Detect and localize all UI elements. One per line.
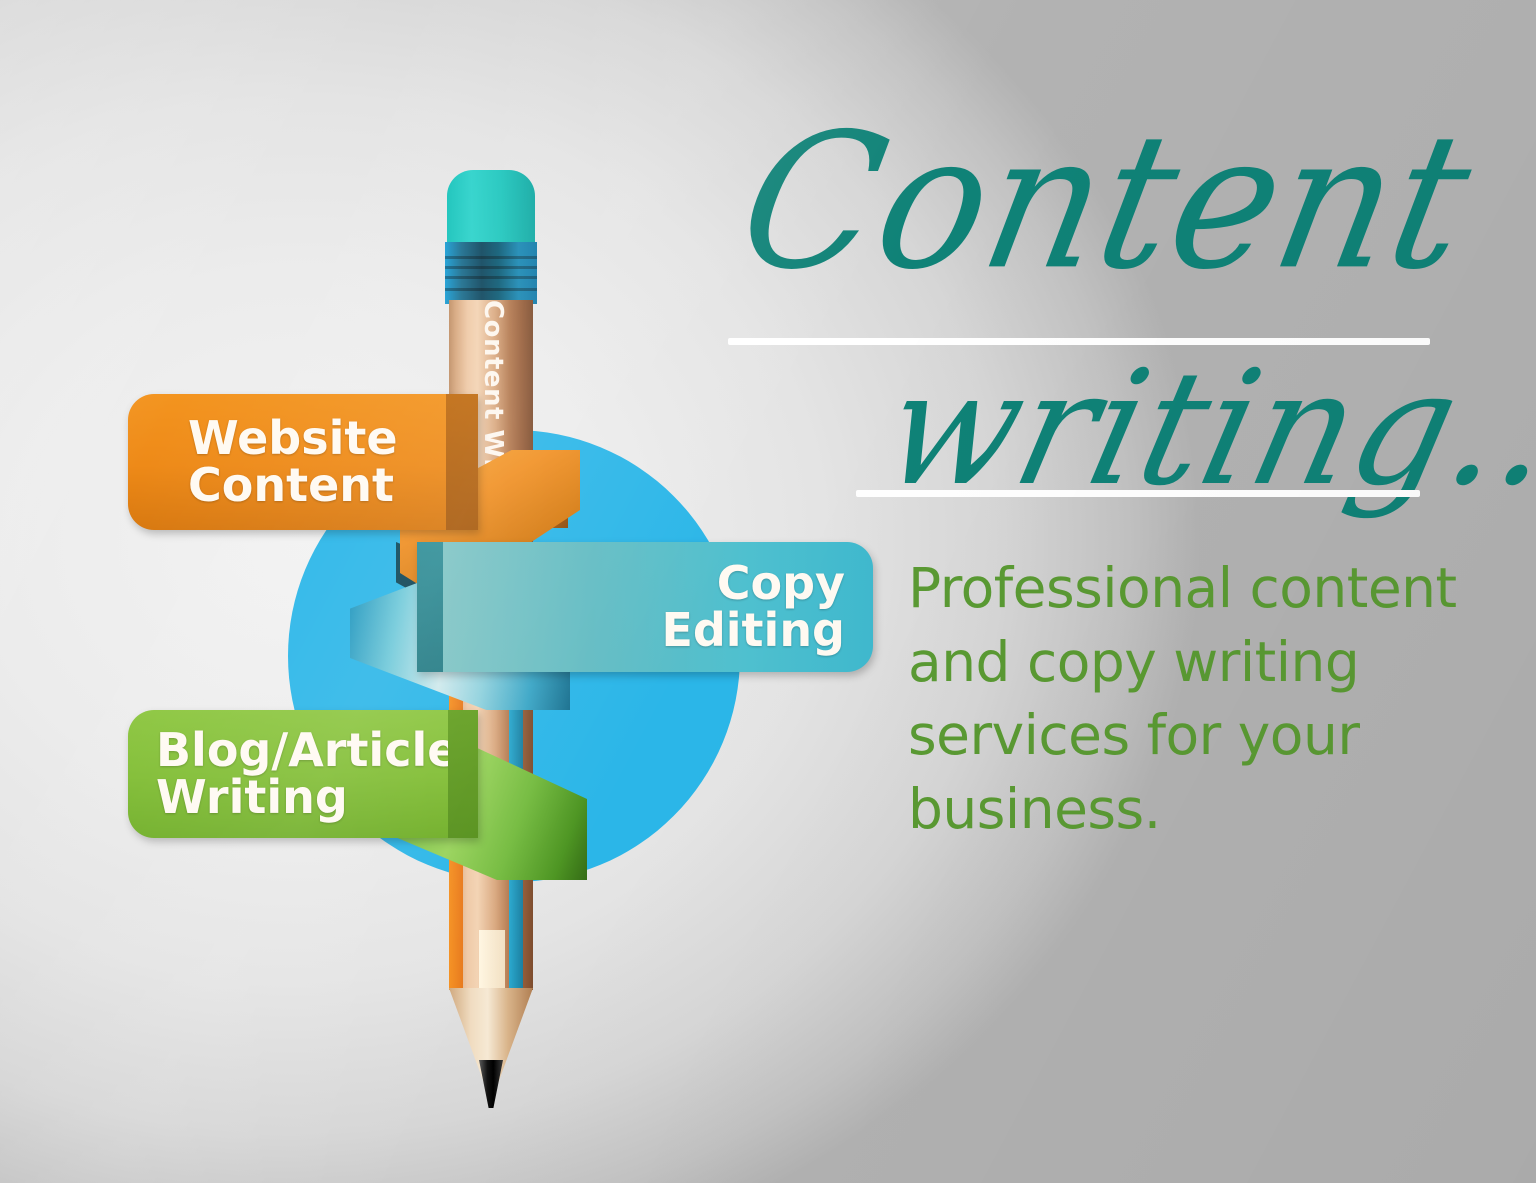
body-copy-text: Professional content and copy writing se… [908,552,1508,847]
pencil-stripe-cream [479,930,505,990]
headline-line-content: Content [728,109,1508,296]
pencil-eraser [447,170,535,248]
pencil-infographic: Content Writing Website Content Copy Edi… [100,150,800,1110]
banner-blog-article-writing-line1: Blog/Article [156,727,448,774]
banner-blog-article-writing-line2: Writing [156,774,448,821]
banner-website-content-line1: Website [188,415,446,462]
headline-rule-top [728,338,1430,345]
poster-canvas: Content Writing Website Content Copy Edi… [0,0,1536,1183]
headline-rule-bottom [856,490,1420,497]
headline-block: Content writing.... [712,120,1472,296]
banner-copy-editing-line2: Editing [661,607,845,654]
pencil-ferrule [445,242,537,304]
banner-copy-editing-line1: Copy [717,560,845,607]
banner-website-content-line2: Content [188,462,446,509]
banner-copy-editing[interactable]: Copy Editing [443,542,873,672]
banner-blog-article-writing[interactable]: Blog/Article Writing [128,710,448,838]
banner-website-content[interactable]: Website Content [128,394,446,530]
pencil-graphite-point [479,1060,503,1108]
headline-line-writing: writing.... [872,350,1536,508]
